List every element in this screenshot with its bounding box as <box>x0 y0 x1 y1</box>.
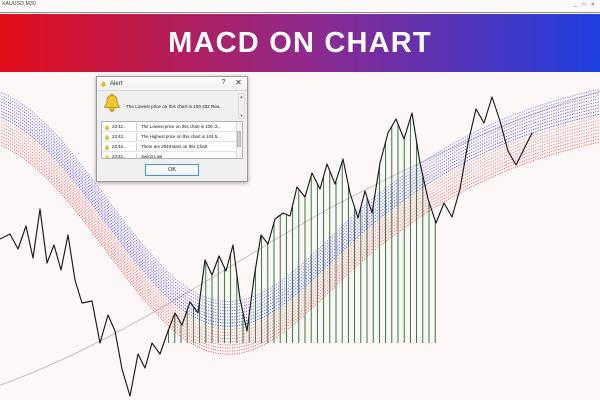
window-controls[interactable]: _ □ ✕ <box>574 2 597 8</box>
screenshot-root: XAUUSD,M30 _ □ ✕ MACD ON CHART Alert ? ✕ <box>0 0 600 400</box>
alert-dialog[interactable]: Alert ? ✕ The Lowest price on this chart… <box>96 76 248 182</box>
list-item-text: The Lowest price on this chart is 100..3… <box>137 124 242 130</box>
dialog-title: Alert <box>110 80 122 88</box>
list-item-time: 23:42... <box>112 134 136 140</box>
title-banner: MACD ON CHART <box>0 14 600 72</box>
list-item-time: 23:42... <box>112 124 136 130</box>
scroll-up-icon[interactable]: ▲ <box>240 94 244 99</box>
dialog-footer: OK <box>97 159 247 181</box>
list-scrollbar[interactable] <box>236 122 242 158</box>
chart-symbol-label: XAUUSD,M30 <box>2 1 36 8</box>
list-item[interactable]: 23:42...There are 2049 Bars on this Char… <box>102 142 242 152</box>
list-scroll-thumb[interactable] <box>237 131 241 147</box>
help-icon[interactable]: ? <box>218 78 229 88</box>
banner-title: MACD ON CHART <box>168 27 432 60</box>
list-item-text: The Highest price on this chart is 104.5… <box>137 134 242 140</box>
scroll-down-icon[interactable]: ▼ <box>240 113 244 118</box>
list-item-text: There are 2049 Bars on this Chart <box>137 144 242 150</box>
list-item-time: 23:42... <box>112 144 136 150</box>
terminal-top-strip: XAUUSD,M30 _ □ ✕ <box>0 0 600 13</box>
alert-history-list[interactable]: 23:42...The Lowest price on this chart i… <box>101 121 243 159</box>
ok-button[interactable]: OK <box>145 164 199 176</box>
close-icon[interactable]: ✕ <box>233 78 244 88</box>
dialog-message-text: The Lowest price on this chart is 100.33… <box>126 103 247 110</box>
bell-icon <box>104 148 110 160</box>
list-item[interactable]: 23:42...Swing Low <box>102 152 242 159</box>
bell-icon <box>102 93 122 120</box>
dialog-message-pane: The Lowest price on this chart is 100.33… <box>97 91 247 121</box>
message-scrollbar[interactable]: ▲ ▼ <box>238 93 245 119</box>
list-item[interactable]: 23:42...The Lowest price on this chart i… <box>102 122 242 132</box>
list-item[interactable]: 23:42...The Highest price on this chart … <box>102 132 242 142</box>
dialog-title-bar[interactable]: Alert ? ✕ <box>97 77 247 91</box>
